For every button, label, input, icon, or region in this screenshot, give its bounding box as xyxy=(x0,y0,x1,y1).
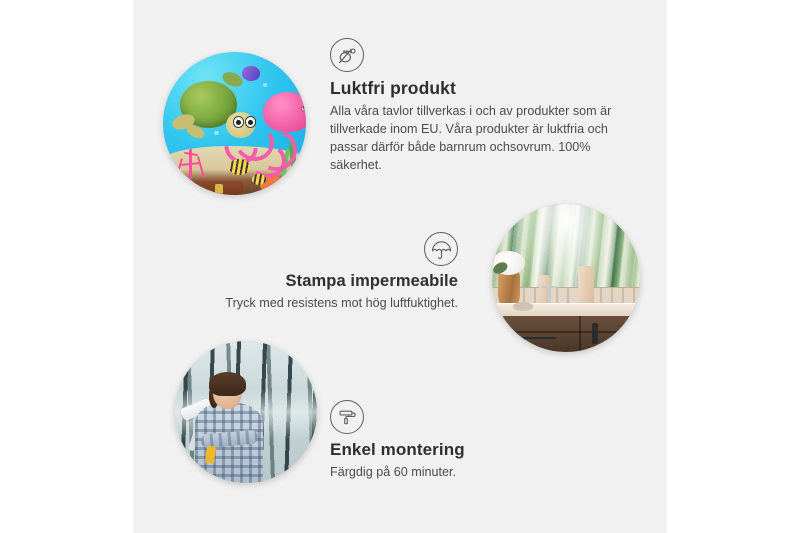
drawer-handle xyxy=(515,337,557,339)
underwater-scene xyxy=(163,52,306,195)
yellow-fish-icon xyxy=(252,174,266,185)
feature-title: Stampa impermeabile xyxy=(218,272,458,291)
feature-block-easy-assembly: Enkel montering Färgdig på 60 minuter. xyxy=(330,400,580,482)
bubble-icon xyxy=(263,83,266,86)
no-perfume-icon xyxy=(330,38,364,72)
woman-hair xyxy=(209,372,246,396)
purple-fish-icon xyxy=(242,66,261,80)
octopus-eye xyxy=(301,106,306,111)
paint-roller-icon xyxy=(330,400,364,434)
feature-description: Tryck med resistens mot hög luftfuktighe… xyxy=(218,295,458,313)
turtle-eye xyxy=(245,116,256,127)
feature-image-odour-free xyxy=(163,52,306,195)
soap-dish xyxy=(513,302,534,311)
feature-block-odour-free: Luktfri produkt Alla våra tavlor tillver… xyxy=(330,38,622,175)
toiletry-bottle xyxy=(578,266,594,306)
feature-description: Alla våra tavlor tillverkas i och av pro… xyxy=(330,103,622,175)
umbrella-icon xyxy=(424,232,458,266)
feature-block-waterproof-print: Stampa impermeabile Tryck med resistens … xyxy=(218,232,458,313)
icon-wrap xyxy=(330,400,580,434)
icon-wrap xyxy=(218,232,458,266)
vanity-cabinet xyxy=(492,316,640,352)
feature-title: Luktfri produkt xyxy=(330,78,622,99)
door-handle xyxy=(592,323,598,344)
product-feature-banner: Luktfri produkt Alla våra tavlor tillver… xyxy=(0,0,800,533)
bubble-icon xyxy=(214,131,218,135)
feature-description: Färgdig på 60 minuter. xyxy=(330,464,580,482)
yellow-fish-icon xyxy=(229,159,250,175)
forest-decorator-scene xyxy=(175,341,317,483)
octopus-icon xyxy=(263,92,306,132)
door-handle xyxy=(627,323,633,344)
bathroom-scene xyxy=(492,204,640,352)
feature-image-easy-assembly xyxy=(175,341,317,483)
coral-icon xyxy=(172,146,212,183)
icon-wrap xyxy=(330,38,622,72)
turtle-eye xyxy=(233,116,244,127)
feature-title: Enkel montering xyxy=(330,440,580,460)
feature-image-waterproof-print xyxy=(492,204,640,352)
